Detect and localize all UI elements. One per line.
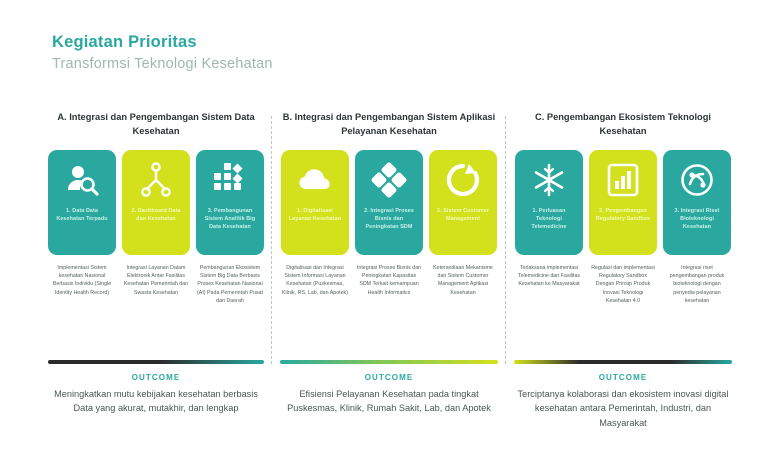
column-b-descriptions: Digitalisasi dan Integrasi Sistem Inform… [278,264,500,297]
column-a: A. Integrasi dan Pengembangan Sistem Dat… [40,110,272,305]
card-c-1[interactable]: 1. Perluasan Teknologi Telemedicine [515,150,583,255]
card-b-3-label: 3. Sistem Customer Management [434,208,492,224]
outcome-a-bar [48,360,264,364]
desc-a-2: Integrasi Layanan Dalam Elektronik Antar… [122,264,190,305]
card-a-1[interactable]: 1. Data Data Kesehatan Terpadu [48,150,116,255]
page-subtitle: Transformsi Teknologi Kesehatan [52,55,273,74]
column-a-descriptions: Implementasi Sistem kesehatan Nasional B… [46,264,266,305]
bio-research-icon [678,161,716,199]
column-b-cards: 1. Digitalisasi Layanan Kesehatan 2. Int… [278,150,500,255]
outcome-c: OUTCOME Terciptanya kolaborasi dan ekosi… [506,360,740,430]
desc-b-1: Digitalisasi dan Integrasi Sistem Inform… [281,264,349,297]
desc-c-1: Terlaksana implementasi Telemedicine dan… [515,264,583,305]
card-a-1-label: 1. Data Data Kesehatan Terpadu [53,208,111,224]
desc-a-3: Pembangunan Ekosistem Sistem Big Data Be… [196,264,264,305]
column-a-heading: A. Integrasi dan Pengembangan Sistem Dat… [46,110,266,144]
column-c: C. Pengembangan Ekosistem Teknologi Kese… [506,110,740,305]
card-a-2[interactable]: 2. Dashboard Data dan Kesehatan [122,150,190,255]
card-b-2-label: 2. Integrasi Proses Bisnis dan Peningkat… [360,208,418,231]
outcome-b-text: Efisiensi Pelayanan Kesehatan pada tingk… [280,387,498,416]
column-c-descriptions: Terlaksana implementasi Telemedicine dan… [512,264,734,305]
column-c-cards: 1. Perluasan Teknologi Telemedicine 2. P… [512,150,734,255]
column-b: B. Integrasi dan Pengembangan Sistem Apl… [272,110,506,305]
card-c-3-label: 3. Integrasi Riset Bioteknologi Kesehata… [668,208,726,231]
card-c-3[interactable]: 3. Integrasi Riset Bioteknologi Kesehata… [663,150,731,255]
outcomes-container: OUTCOME Meningkatkan mutu kebijakan kese… [40,360,740,430]
column-a-cards: 1. Data Data Kesehatan Terpadu 2. Dashbo… [46,150,266,255]
page-header: Kegiatan Prioritas Transformsi Teknologi… [52,32,273,73]
infographic-page: Kegiatan Prioritas Transformsi Teknologi… [0,0,768,452]
desc-c-3: Integrasi riset pengembangan produk biot… [663,264,731,305]
user-search-icon [63,161,101,199]
network-share-icon [137,161,175,199]
outcome-a-title: OUTCOME [48,373,264,382]
desc-a-1: Implementasi Sistem kesehatan Nasional B… [48,264,116,305]
card-b-1-label: 1. Digitalisasi Layanan Kesehatan [286,208,344,224]
card-c-2[interactable]: 2. Pengembangan Regulatory Sandbox [589,150,657,255]
card-b-1[interactable]: 1. Digitalisasi Layanan Kesehatan [281,150,349,255]
grid-blocks-icon [211,161,249,199]
card-b-2[interactable]: 2. Integrasi Proses Bisnis dan Peningkat… [355,150,423,255]
outcome-b-bar [280,360,498,364]
columns-container: A. Integrasi dan Pengembangan Sistem Dat… [40,110,740,305]
outcome-b-title: OUTCOME [280,373,498,382]
document-chart-icon [604,161,642,199]
page-title: Kegiatan Prioritas [52,32,273,53]
outcome-b: OUTCOME Efisiensi Pelayanan Kesehatan pa… [272,360,506,430]
desc-b-3: Ketersediaan Mekanisme dan Sistem Custom… [429,264,497,297]
desc-c-2: Regulasi dan implementasi Regulatory San… [589,264,657,305]
card-a-3[interactable]: 3. Pembangunan Sistem Analitik Big Data … [196,150,264,255]
outcome-c-bar [514,360,732,364]
column-c-heading: C. Pengembangan Ekosistem Teknologi Kese… [512,110,734,144]
cloud-icon [296,161,334,199]
outcome-c-title: OUTCOME [514,373,732,382]
desc-b-2: Integrasi Proses Bisnis dan Peningkatan … [355,264,423,297]
snowflake-telemedicine-icon [530,161,568,199]
card-b-3[interactable]: 3. Sistem Customer Management [429,150,497,255]
outcome-a-text: Meningkatkan mutu kebijakan kesehatan be… [48,387,264,416]
card-c-2-label: 2. Pengembangan Regulatory Sandbox [594,208,652,224]
outcome-c-text: Terciptanya kolaborasi dan ekosistem ino… [514,387,732,430]
refresh-cycle-icon [444,161,482,199]
column-b-heading: B. Integrasi dan Pengembangan Sistem Apl… [278,110,500,144]
card-a-3-label: 3. Pembangunan Sistem Analitik Big Data … [201,208,259,231]
outcome-a: OUTCOME Meningkatkan mutu kebijakan kese… [40,360,272,430]
puzzle-integration-icon [370,161,408,199]
card-c-1-label: 1. Perluasan Teknologi Telemedicine [520,208,578,231]
card-a-2-label: 2. Dashboard Data dan Kesehatan [127,208,185,224]
